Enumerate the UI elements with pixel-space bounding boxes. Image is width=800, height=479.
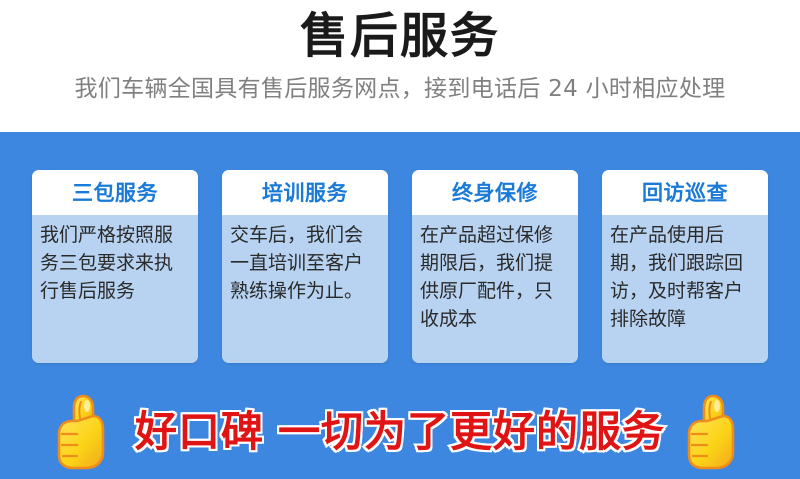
thumbs-up-icon — [683, 390, 747, 474]
service-cards-row: 三包服务 我们严格按照服务三包要求来执行售后服务 培训服务 交车后，我们会一直培… — [32, 170, 768, 363]
card-header: 终身保修 — [412, 170, 578, 215]
slogan-text: 好口碑一切为了更好的服务 — [135, 407, 665, 457]
slogan-part-2: 一切为了更好的服务 — [264, 407, 665, 456]
service-promo-page: 售后服务 我们车辆全国具有售后服务网点，接到电话后 24 小时相应处理 三包服务… — [0, 0, 800, 479]
card-title: 培训服务 — [262, 181, 348, 205]
service-card[interactable]: 三包服务 我们严格按照服务三包要求来执行售后服务 — [32, 170, 198, 363]
card-description: 我们严格按照服务三包要求来执行售后服务 — [40, 221, 190, 305]
card-body: 交车后，我们会一直培训至客户熟练操作为止。 — [222, 215, 388, 363]
thumbs-up-icon — [53, 390, 117, 474]
page-title: 售后服务 — [0, 0, 800, 65]
slogan-part-1: 好口碑 — [135, 407, 264, 456]
service-card[interactable]: 终身保修 在产品超过保修期限后，我们提供原厂配件，只收成本 — [412, 170, 578, 363]
card-description: 在产品使用后期，我们跟踪回访，及时帮客户排除故障 — [610, 221, 760, 333]
card-header: 回访巡查 — [602, 170, 768, 215]
card-header: 培训服务 — [222, 170, 388, 215]
card-title: 终身保修 — [452, 181, 538, 205]
page-header: 售后服务 我们车辆全国具有售后服务网点，接到电话后 24 小时相应处理 — [0, 0, 800, 132]
card-description: 交车后，我们会一直培训至客户熟练操作为止。 — [230, 221, 380, 305]
card-body: 在产品超过保修期限后，我们提供原厂配件，只收成本 — [412, 215, 578, 363]
content-band: 三包服务 我们严格按照服务三包要求来执行售后服务 培训服务 交车后，我们会一直培… — [0, 132, 800, 479]
card-title: 回访巡查 — [642, 181, 728, 205]
card-description: 在产品超过保修期限后，我们提供原厂配件，只收成本 — [420, 221, 570, 333]
slogan-bar: 好口碑一切为了更好的服务 — [0, 385, 800, 479]
card-body: 在产品使用后期，我们跟踪回访，及时帮客户排除故障 — [602, 215, 768, 363]
card-header: 三包服务 — [32, 170, 198, 215]
service-card[interactable]: 回访巡查 在产品使用后期，我们跟踪回访，及时帮客户排除故障 — [602, 170, 768, 363]
card-body: 我们严格按照服务三包要求来执行售后服务 — [32, 215, 198, 363]
service-card[interactable]: 培训服务 交车后，我们会一直培训至客户熟练操作为止。 — [222, 170, 388, 363]
page-subtitle: 我们车辆全国具有售后服务网点，接到电话后 24 小时相应处理 — [0, 65, 800, 104]
card-title: 三包服务 — [72, 181, 158, 205]
